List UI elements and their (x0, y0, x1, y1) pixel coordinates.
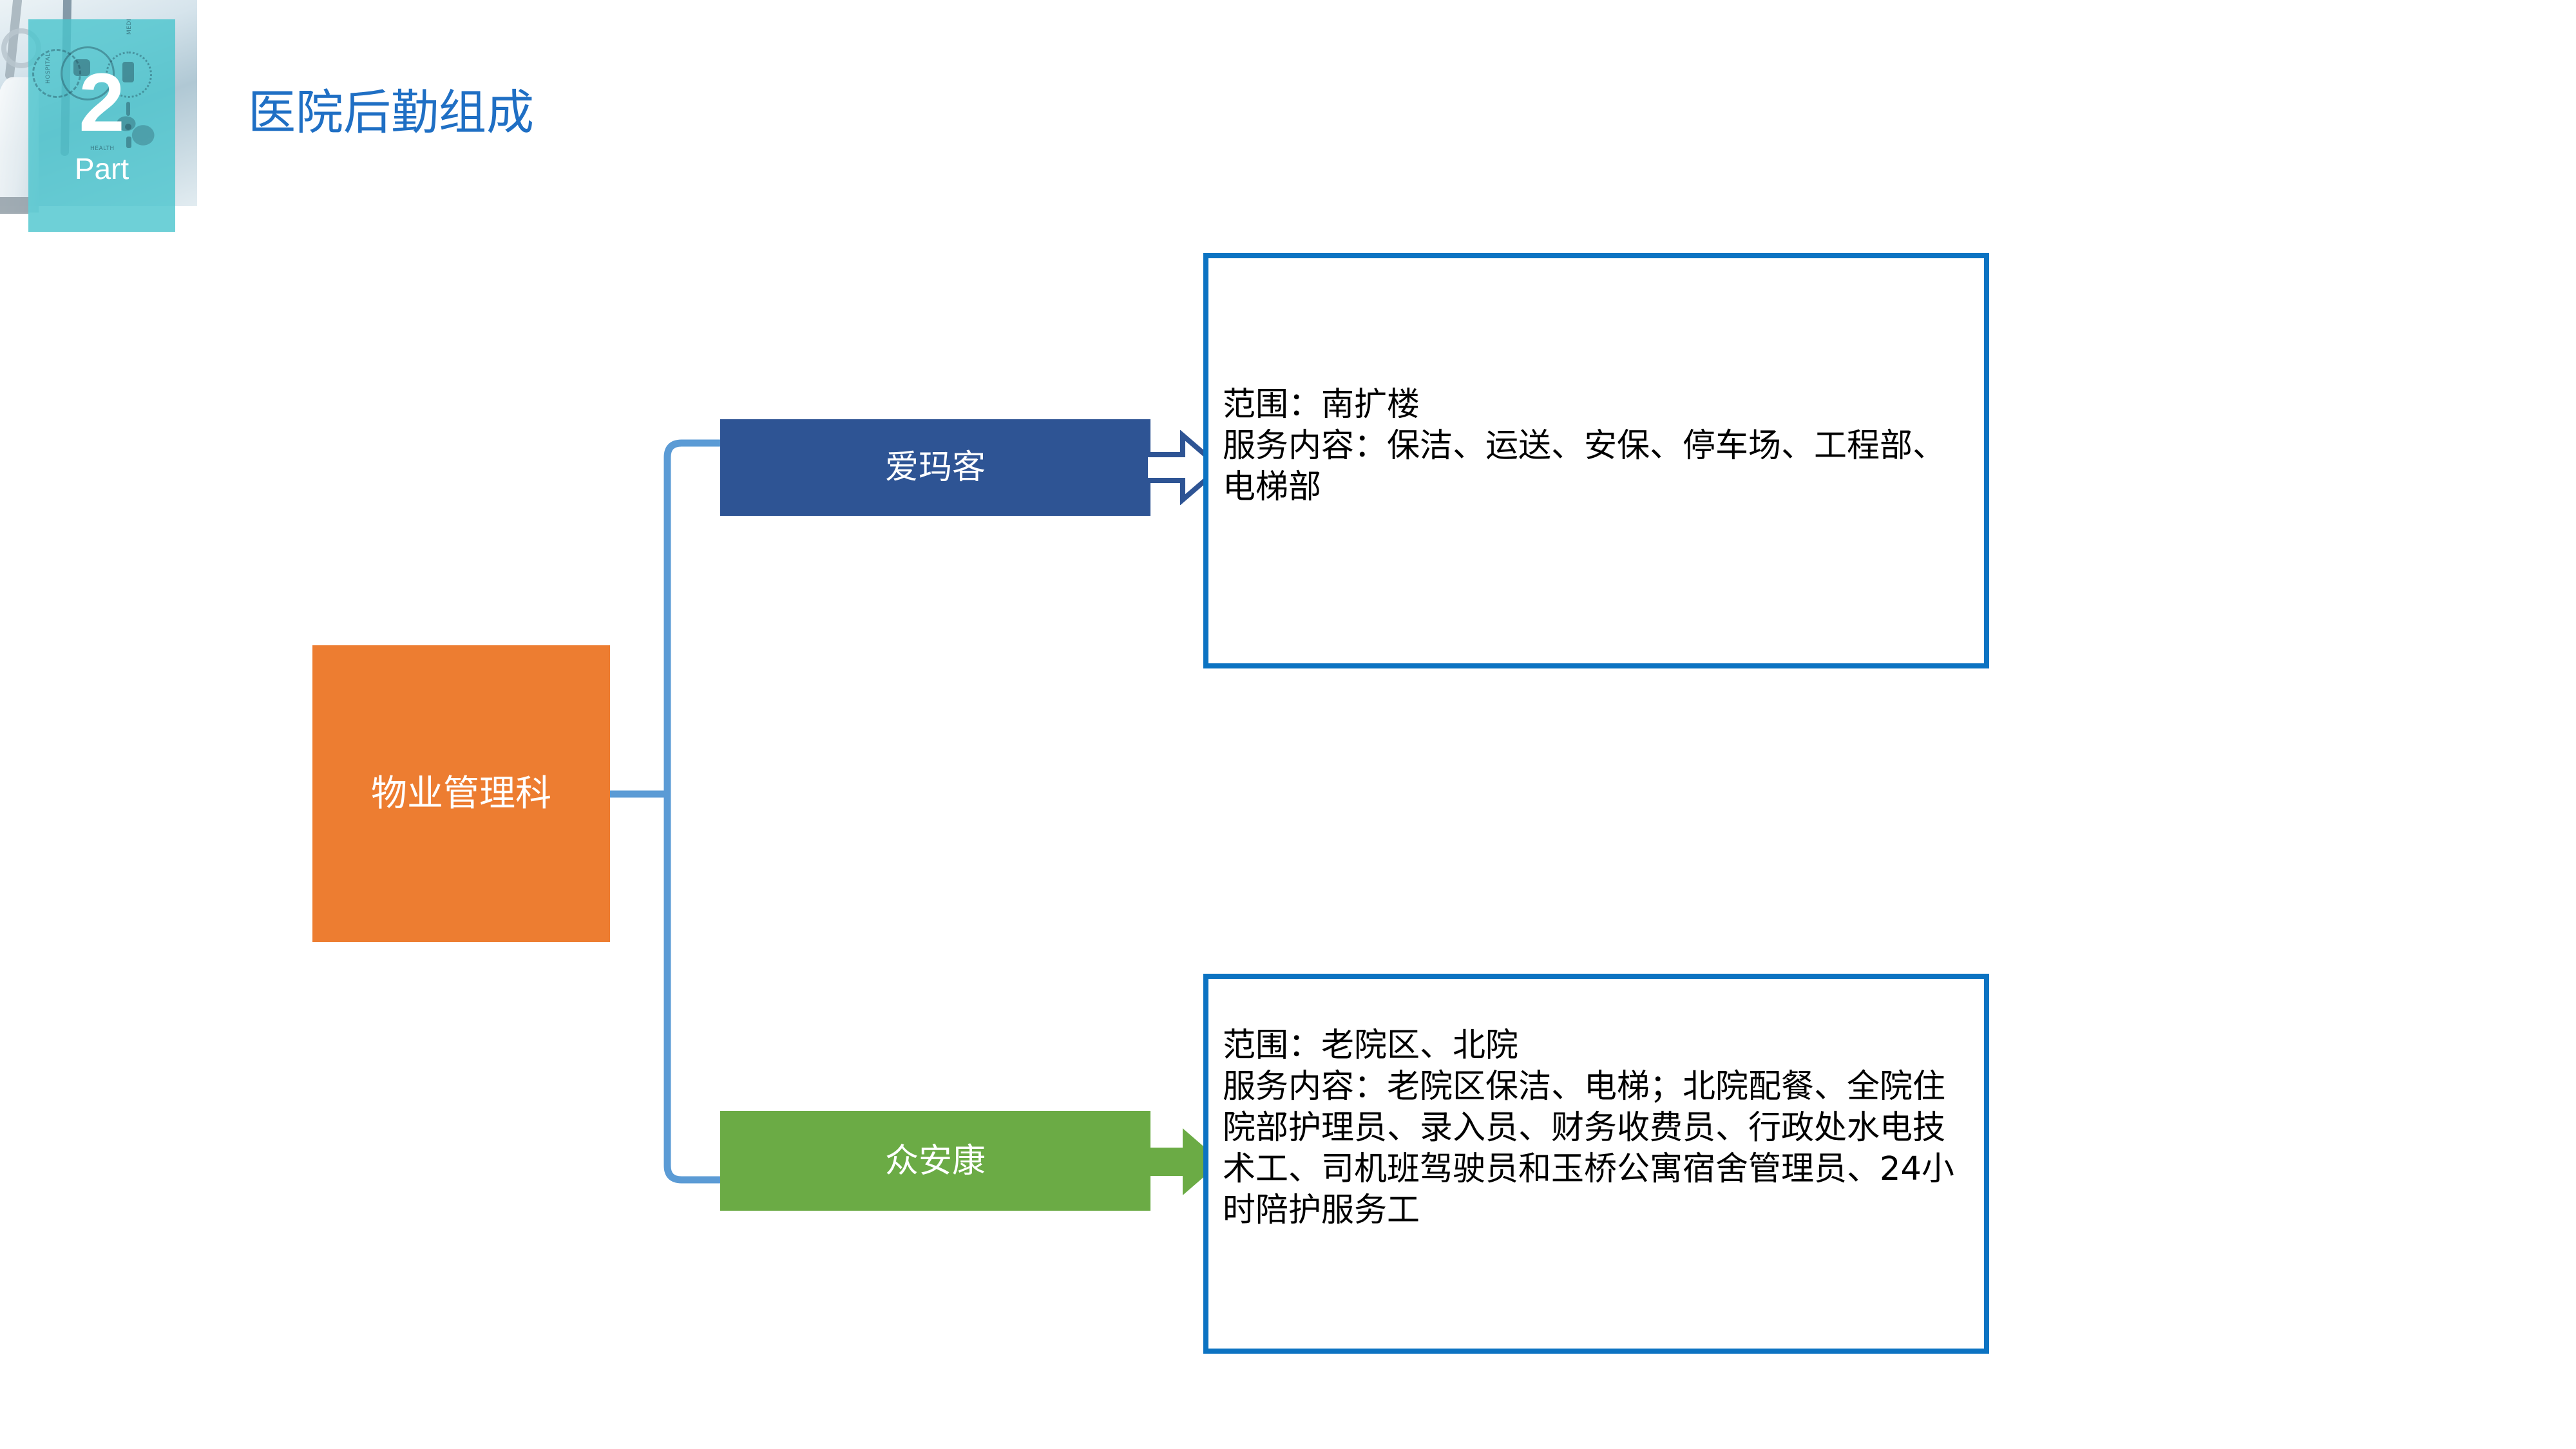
node-label: 物业管理科 (371, 773, 551, 815)
badge-teal-card: HOSPITAL MEDICAL HEALTH 2 Part (28, 19, 175, 232)
node-zhongankang[interactable]: 众安康 (720, 1111, 1150, 1211)
node-aimake[interactable]: 爱玛客 (720, 419, 1150, 516)
node-property-management-department[interactable]: 物业管理科 (312, 645, 610, 942)
detail-box-zhongankang: 范围：老院区、北院 服务内容：老院区保洁、电梯；北院配餐、全院住院部护理员、录入… (1203, 974, 1989, 1354)
page-title: 医院后勤组成 (248, 85, 534, 140)
connector-branch-top (667, 443, 720, 794)
photo-edge-strip (0, 197, 28, 214)
part-word: Part (28, 152, 175, 185)
detail-box-aimake: 范围：南扩楼 服务内容：保洁、运送、安保、停车场、工程部、电梯部 (1203, 253, 1989, 668)
node-label: 爱玛客 (885, 448, 986, 488)
part-badge: HOSPITAL MEDICAL HEALTH 2 Part (0, 0, 197, 251)
node-label: 众安康 (885, 1141, 986, 1181)
part-number: 2 (28, 62, 175, 144)
detail-text: 范围：南扩楼 服务内容：保洁、运送、安保、停车场、工程部、电梯部 (1223, 384, 1972, 508)
badge-tiny-text: MEDICAL (126, 19, 133, 35)
connector-branch-bottom (667, 794, 720, 1180)
detail-text: 范围：老院区、北院 服务内容：老院区保洁、电梯；北院配餐、全院住院部护理员、录入… (1223, 1025, 1972, 1231)
